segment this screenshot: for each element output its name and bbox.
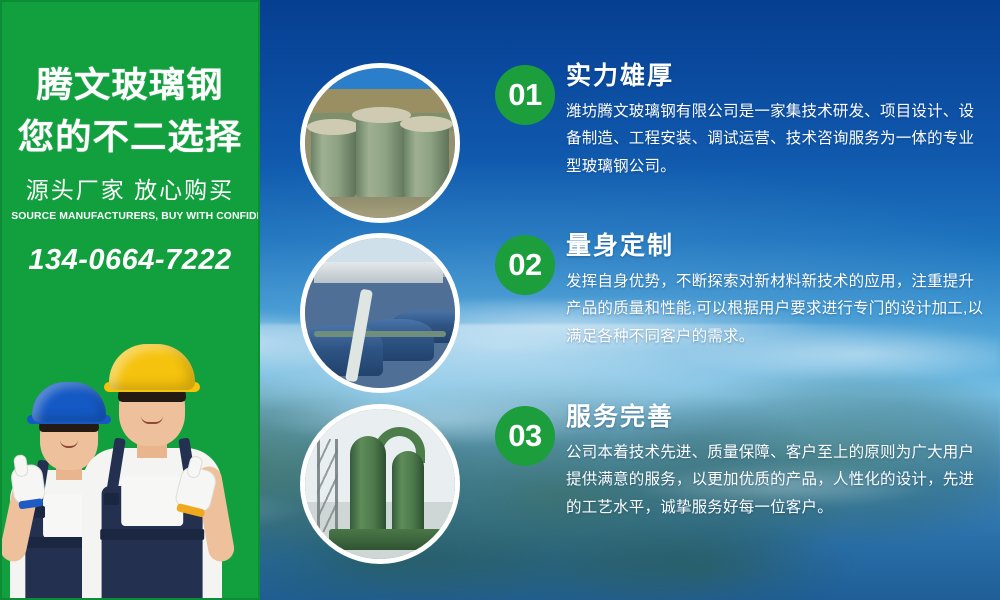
promo-banner: 腾文玻璃钢 您的不二选择 源头厂家 放心购买 SOURCE MANUFACTUR… bbox=[0, 0, 1000, 600]
feature-text-03: 服务完善 公司本着技术先进、质量保障、客户至上的原则为广大用户提供满意的服务，以… bbox=[566, 404, 988, 521]
brand-title: 腾文玻璃钢 bbox=[5, 66, 255, 105]
worker-back-thumb-up bbox=[13, 454, 29, 478]
feature-item-01: 01 实力雄厚 潍坊腾文玻璃钢有限公司是一家集技术研发、项目设计、设备制造、工程… bbox=[300, 63, 988, 223]
frp-storage-tanks-photo bbox=[300, 63, 460, 223]
feature-number-badge-01: 01 bbox=[495, 65, 555, 125]
workers-photo bbox=[2, 353, 260, 598]
worker-front bbox=[82, 361, 222, 598]
feature-item-03: 03 服务完善 公司本着技术先进、质量保障、客户至上的原则为广大用户提供满意的服… bbox=[300, 404, 988, 564]
photo-content-tanks bbox=[305, 68, 455, 218]
feature-description-02: 发挥自身优势，不断探索对新材料新技术的应用，注重提升产品的质量和性能,可以根据用… bbox=[566, 268, 988, 351]
towers-lattice-mast bbox=[317, 439, 338, 532]
feature-list: 01 实力雄厚 潍坊腾文玻璃钢有限公司是一家集技术研发、项目设计、设备制造、工程… bbox=[300, 0, 1000, 600]
feature-description-01: 潍坊腾文玻璃钢有限公司是一家集技术研发、项目设计、设备制造、工程安装、调试运营、… bbox=[566, 98, 988, 181]
worker-front-belt bbox=[100, 529, 204, 540]
brand-text-block: 腾文玻璃钢 您的不二选择 源头厂家 放心购买 SOURCE MANUFACTUR… bbox=[2, 66, 258, 277]
towers-base-skid bbox=[329, 529, 443, 550]
feature-body-02: 02 量身定制 发挥自身优势，不断探索对新材料新技术的应用，注重提升产品的质量和… bbox=[495, 233, 988, 350]
feature-body-03: 03 服务完善 公司本着技术先进、质量保障、客户至上的原则为广大用户提供满意的服… bbox=[495, 404, 988, 521]
worker-back-glove bbox=[10, 463, 47, 505]
brand-subtitle: 您的不二选择 bbox=[5, 118, 255, 157]
brand-slogan-cn: 源头厂家 放心购买 bbox=[10, 178, 250, 203]
worker-front-buckle-left bbox=[104, 493, 119, 505]
feature-description-03: 公司本着技术先进、质量保障、客户至上的原则为广大用户提供满意的服务，以更加优质的… bbox=[566, 439, 988, 522]
contact-phone-number[interactable]: 134-0664-7222 bbox=[10, 244, 250, 277]
scrubber-tower-2 bbox=[392, 451, 424, 535]
feature-item-02: 02 量身定制 发挥自身优势，不断探索对新材料新技术的应用，注重提升产品的质量和… bbox=[300, 233, 988, 393]
tanks-ground bbox=[305, 194, 455, 218]
brand-slogan-en: SOURCE MANUFACTURERS, BUY WITH CONFIDENC… bbox=[11, 210, 249, 222]
photo-content-towers bbox=[305, 409, 455, 559]
frp-scrubber-towers-photo bbox=[300, 404, 460, 564]
feature-text-02: 量身定制 发挥自身优势，不断探索对新材料新技术的应用，注重提升产品的质量和性能,… bbox=[566, 233, 988, 350]
feature-number-badge-02: 02 bbox=[495, 235, 555, 295]
tank-1 bbox=[311, 128, 356, 197]
tank-2 bbox=[356, 116, 407, 197]
feature-title-01: 实力雄厚 bbox=[566, 63, 988, 91]
covers-buildings bbox=[314, 262, 443, 283]
scrubber-tower-1 bbox=[350, 436, 386, 535]
brand-panel: 腾文玻璃钢 您的不二选择 源头厂家 放心购买 SOURCE MANUFACTUR… bbox=[0, 0, 260, 600]
tank-3 bbox=[404, 125, 449, 197]
feature-title-02: 量身定制 bbox=[566, 233, 988, 261]
sedimentation-tank-covers-photo bbox=[300, 233, 460, 393]
feature-title-03: 服务完善 bbox=[566, 404, 988, 432]
feature-body-01: 01 实力雄厚 潍坊腾文玻璃钢有限公司是一家集技术研发、项目设计、设备制造、工程… bbox=[495, 63, 988, 180]
covers-cross-pipe bbox=[314, 331, 446, 337]
worker-front-bib bbox=[121, 476, 183, 526]
yellow-hard-hat-icon bbox=[109, 344, 195, 390]
feature-text-01: 实力雄厚 潍坊腾文玻璃钢有限公司是一家集技术研发、项目设计、设备制造、工程安装、… bbox=[566, 63, 988, 180]
photo-content-covers bbox=[305, 238, 455, 388]
feature-number-badge-03: 03 bbox=[495, 406, 555, 466]
